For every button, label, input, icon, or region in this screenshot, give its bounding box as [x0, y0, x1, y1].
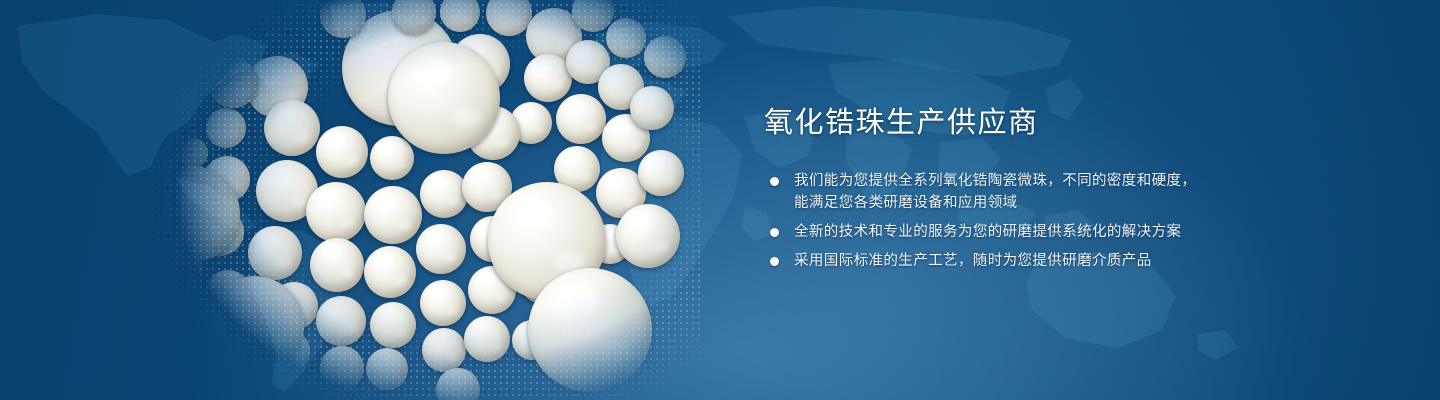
list-item: 我们能为您提供全系列氧化锆陶瓷微珠，不同的密度和硬度， 能满足您各类研磨设备和应… [764, 170, 1404, 214]
bullet-dot-icon [770, 177, 779, 186]
feature-text-line2: 能满足您各类研磨设备和应用领域 [794, 192, 1404, 214]
zirconia-bead-photo [120, 0, 700, 400]
list-item: 全新的技术和专业的服务为您的研磨提供系统化的解决方案 [764, 221, 1404, 243]
feature-list: 我们能为您提供全系列氧化锆陶瓷微珠，不同的密度和硬度， 能满足您各类研磨设备和应… [764, 170, 1404, 272]
bullet-dot-icon [770, 228, 779, 237]
feature-text-line1: 采用国际标准的生产工艺，随时为您提供研磨介质产品 [794, 253, 1152, 269]
hero-banner: 氧化锆珠生产供应商 我们能为您提供全系列氧化锆陶瓷微珠，不同的密度和硬度， 能满… [0, 0, 1440, 400]
bullet-dot-icon [770, 257, 779, 266]
banner-copy: 氧化锆珠生产供应商 我们能为您提供全系列氧化锆陶瓷微珠，不同的密度和硬度， 能满… [764, 104, 1404, 279]
feature-text-line1: 我们能为您提供全系列氧化锆陶瓷微珠，不同的密度和硬度， [794, 173, 1196, 189]
list-item: 采用国际标准的生产工艺，随时为您提供研磨介质产品 [764, 250, 1404, 272]
page-title: 氧化锆珠生产供应商 [764, 104, 1404, 142]
feature-text-line1: 全新的技术和专业的服务为您的研磨提供系统化的解决方案 [794, 224, 1181, 240]
